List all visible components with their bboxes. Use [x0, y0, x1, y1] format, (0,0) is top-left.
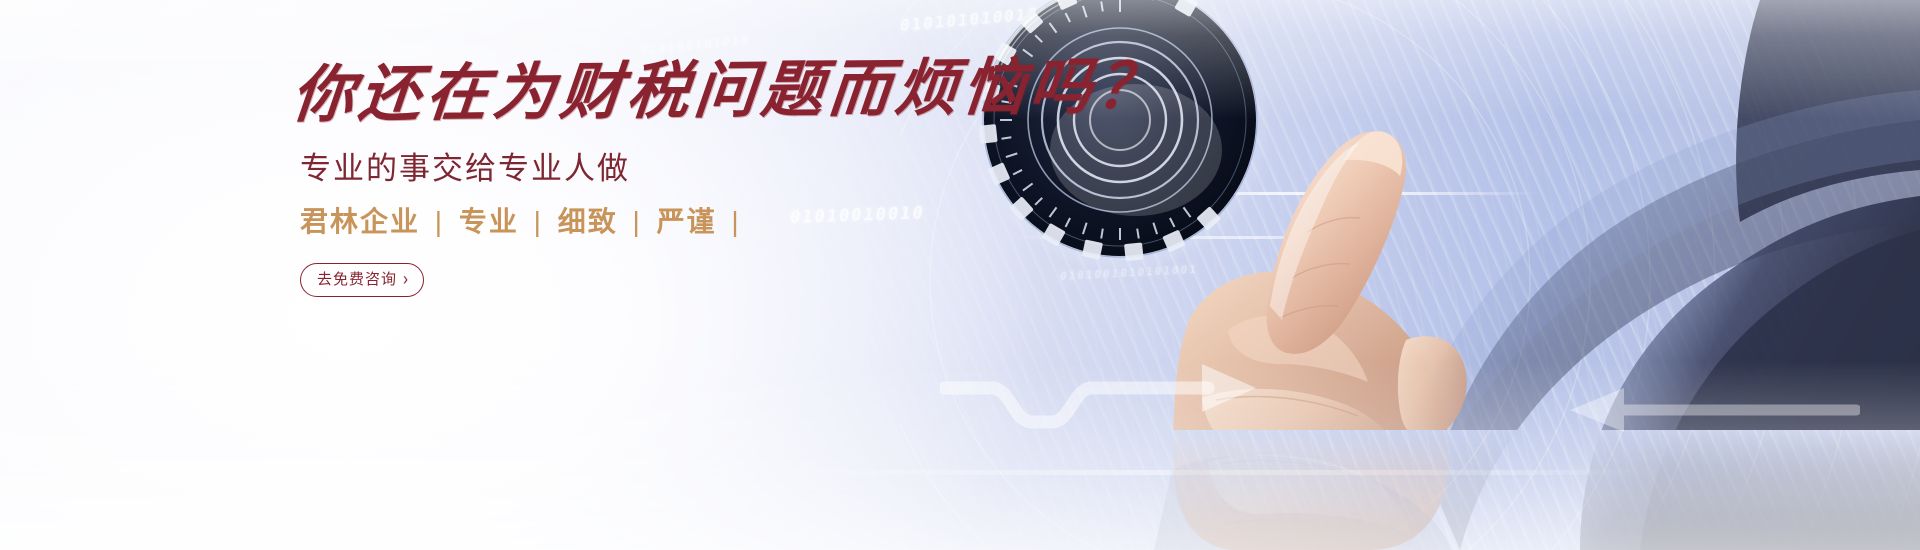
tagline-item-brand: 君林企业 — [300, 206, 420, 237]
bottom-fade-overlay — [0, 360, 1920, 550]
banner-content: 你还在为财税问题而烦恼吗？ 专业的事交给专业人做 君林企业 | 专业 | 细致 … — [292, 62, 1052, 297]
tagline-item-1: 专业 — [459, 206, 519, 237]
free-consultation-button[interactable]: 去免费咨询 › — [300, 263, 424, 297]
cta-row: 去免费咨询 › — [300, 263, 1052, 297]
tagline-separator: | — [430, 206, 449, 237]
banner-tagline: 君林企业 | 专业 | 细致 | 严谨 | — [300, 205, 1052, 239]
tagline-separator: | — [529, 206, 548, 237]
tagline-separator: | — [726, 206, 745, 237]
banner-subheadline: 专业的事交给专业人做 — [300, 150, 1052, 187]
hero-banner: 01010101001010 1010101010010101010 01010… — [0, 0, 1920, 550]
tagline-item-2: 细致 — [558, 206, 618, 237]
chevron-right-icon: › — [403, 270, 409, 289]
tagline-separator: | — [628, 206, 647, 237]
banner-headline: 你还在为财税问题而烦恼吗？ — [289, 54, 1056, 128]
tagline-item-3: 严谨 — [657, 206, 717, 237]
free-consultation-button-label: 去免费咨询 — [317, 272, 397, 287]
